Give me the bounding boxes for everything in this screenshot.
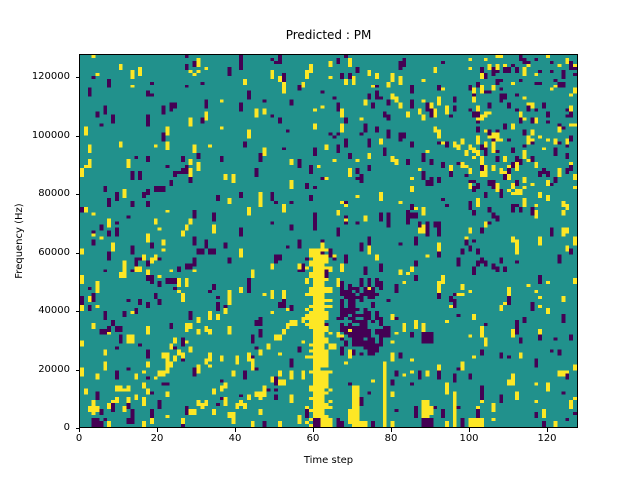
x-tick-mark (313, 428, 314, 432)
x-tick-label: 60 (283, 434, 343, 444)
y-tick-label: 80000 (38, 189, 70, 199)
y-tick-mark (76, 136, 80, 137)
x-tick-mark (79, 428, 80, 432)
figure-canvas: Predicted : PM 0200004000060000800001000… (0, 0, 640, 480)
x-tick-label: 40 (205, 434, 265, 444)
y-tick-mark (76, 370, 80, 371)
y-tick-label: 100000 (32, 131, 70, 141)
x-tick-mark (547, 428, 548, 432)
x-tick-mark (235, 428, 236, 432)
y-tick-label: 120000 (32, 72, 70, 82)
x-tick-mark (469, 428, 470, 432)
y-tick-mark (76, 194, 80, 195)
x-tick-label: 80 (361, 434, 421, 444)
y-tick-mark (76, 77, 80, 78)
chart-title: Predicted : PM (79, 28, 578, 42)
heatmap-image (80, 55, 577, 427)
x-tick-label: 0 (49, 434, 109, 444)
y-tick-label: 40000 (38, 306, 70, 316)
y-tick-label: 20000 (38, 365, 70, 375)
x-tick-label: 100 (439, 434, 499, 444)
y-tick-mark (76, 311, 80, 312)
heatmap-axes[interactable] (79, 54, 578, 428)
x-tick-label: 120 (517, 434, 577, 444)
y-tick-mark (76, 253, 80, 254)
x-tick-label: 20 (127, 434, 187, 444)
y-tick-label: 60000 (38, 248, 70, 258)
y-tick-label: 0 (64, 423, 70, 433)
x-tick-mark (391, 428, 392, 432)
x-axis-label: Time step (79, 455, 578, 467)
x-tick-mark (157, 428, 158, 432)
y-axis-label: Frequency (Hz) (13, 54, 26, 428)
